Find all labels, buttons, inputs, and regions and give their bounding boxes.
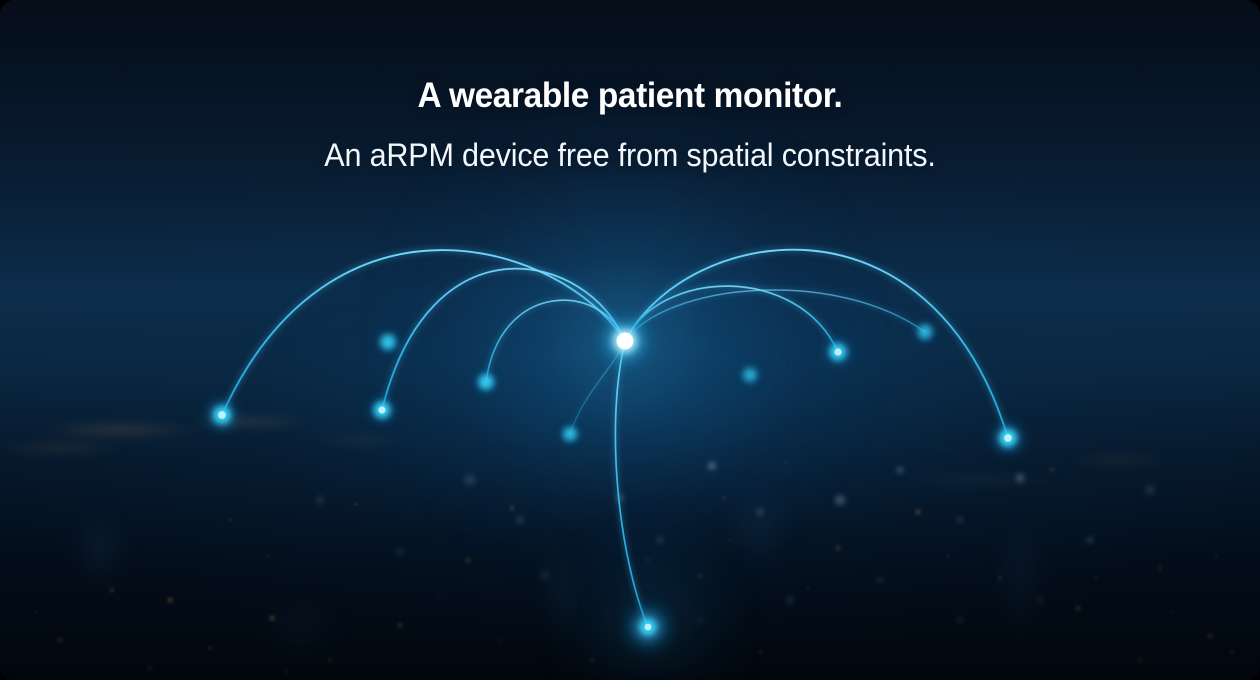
hub-node: [617, 333, 634, 350]
node-far-right-glow: [986, 416, 1030, 460]
node-bottom-center: [641, 620, 655, 634]
node-inner-low: [564, 428, 577, 441]
node-right-upper-glow: [911, 318, 939, 346]
node-bottom-center-core: [645, 624, 652, 631]
node-left-upper-glow: [373, 327, 403, 357]
arc-hub-to-right-mid: [625, 286, 838, 352]
node-far-left-core: [218, 411, 226, 419]
arc-hub-to-bottom-center-halo: [615, 341, 648, 627]
hub-node-inner-glow: [613, 329, 638, 354]
node-inner-low-glow: [557, 421, 583, 447]
arc-halo-group: [222, 250, 1008, 627]
arc-hub-to-far-left-halo: [222, 250, 625, 415]
node-right-mid-core: [834, 348, 841, 355]
node-core-group: [214, 325, 1016, 634]
arc-hub-to-far-right: [625, 250, 1008, 438]
hub-node-glow: [591, 307, 659, 375]
node-left-lower-glow: [364, 392, 400, 428]
city-skyline-far-lights: [0, 400, 1260, 520]
arc-hub-to-inner-low: [570, 341, 625, 434]
node-far-right-core: [1004, 434, 1012, 442]
central-column-glow: [500, 400, 800, 680]
node-inner-left-glow: [471, 367, 501, 397]
page-title: A wearable patient monitor.: [28, 78, 1231, 113]
arc-hub-to-right-upper: [625, 290, 925, 341]
arc-hub-to-left-lower: [382, 269, 625, 410]
arc-line-group: [222, 250, 1008, 627]
hero-banner: A wearable patient monitor. An aRPM devi…: [0, 0, 1260, 680]
page-subtitle: An aRPM device free from spatial constra…: [28, 139, 1231, 171]
node-right-mid: [831, 345, 846, 360]
node-glow-group: [200, 307, 1030, 657]
node-inner-right-glow: [737, 362, 763, 388]
node-far-right: [1000, 430, 1016, 446]
node-right-upper: [918, 325, 932, 339]
node-right-mid-glow: [819, 333, 857, 371]
node-left-lower-core: [378, 406, 385, 413]
arc-hub-to-inner-low-halo: [570, 341, 625, 434]
arc-hub-to-far-right-halo: [625, 250, 1008, 438]
node-left-lower: [375, 403, 390, 418]
arc-hub-to-left-lower-halo: [382, 269, 625, 410]
node-inner-right: [744, 369, 757, 382]
city-skyline-buildings: [0, 430, 1260, 680]
arc-hub-to-right-upper-halo: [625, 290, 925, 341]
arc-hub-to-bottom-center: [615, 341, 648, 627]
node-bottom-center-glow: [618, 597, 678, 657]
node-far-left-glow: [200, 393, 244, 437]
arc-hub-to-right-mid-halo: [625, 286, 838, 352]
node-left-upper: [381, 335, 395, 349]
node-far-left: [214, 407, 230, 423]
arc-hub-to-far-left: [222, 250, 625, 415]
arc-hub-to-inner-left: [486, 300, 625, 382]
arc-hub-to-inner-left-halo: [486, 300, 625, 382]
node-inner-left: [479, 375, 493, 389]
hero-copy: A wearable patient monitor. An aRPM devi…: [0, 78, 1260, 171]
